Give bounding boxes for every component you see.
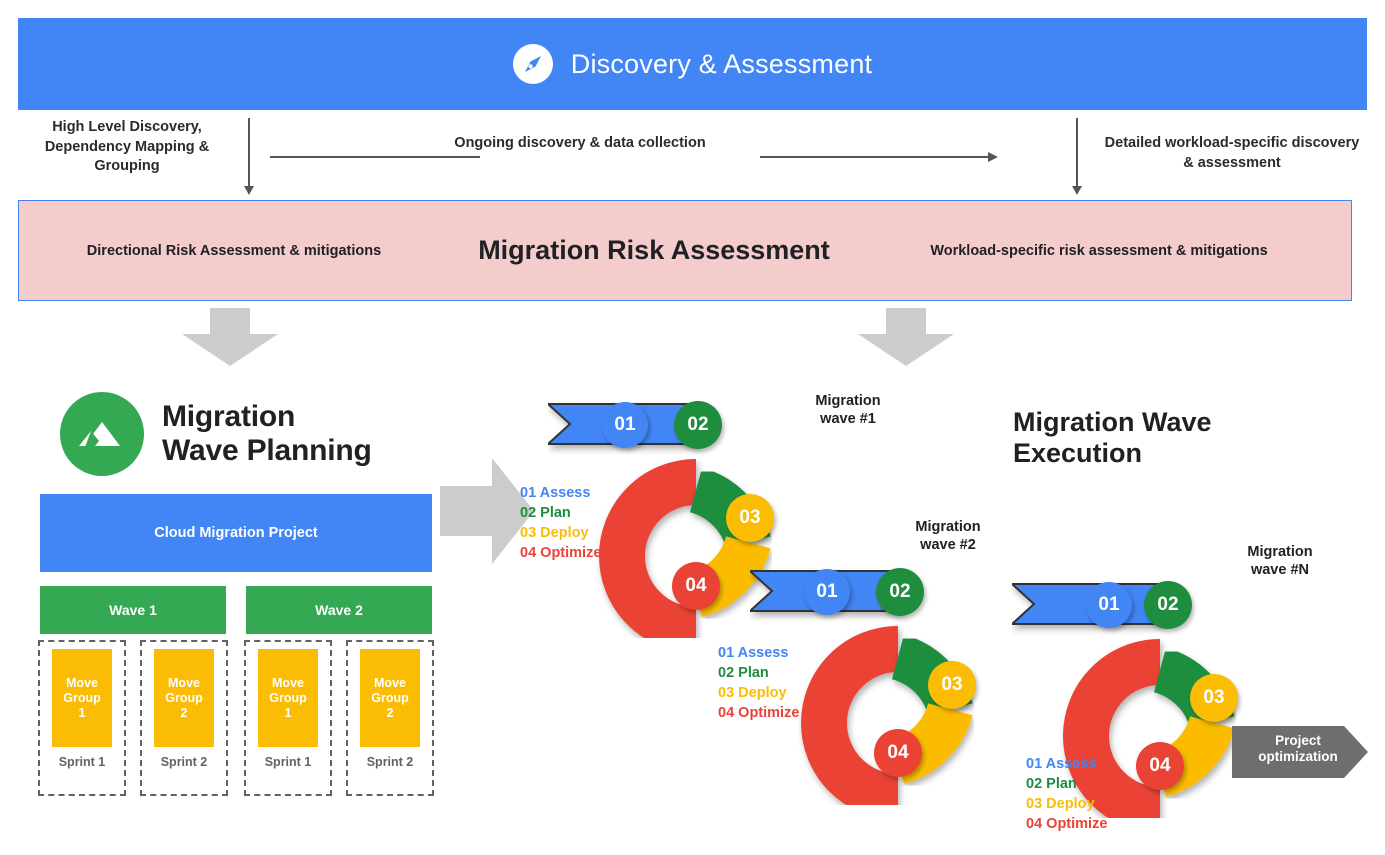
- discovery-assessment-banner: Discovery & Assessment: [18, 18, 1367, 110]
- planning-header: Migration Wave Planning: [60, 388, 440, 480]
- wave-1-badge-01: 01: [602, 402, 648, 448]
- wave-1-badge-03: 03: [726, 494, 774, 542]
- badge-label: 03: [739, 507, 760, 529]
- legend-label: Deploy: [540, 525, 588, 541]
- right-down-arrowhead: [1072, 186, 1082, 195]
- wave-n-badge-01: 01: [1086, 582, 1132, 628]
- badge-label: 01: [1098, 594, 1119, 616]
- wave-2-badge-01: 01: [804, 569, 850, 615]
- connector-right-arrowhead: [988, 152, 998, 162]
- legend-num: 03: [1026, 796, 1042, 812]
- project-optimization-label: Project optimization: [1244, 733, 1352, 765]
- legend-item-03: 03 Deploy: [1026, 794, 1107, 814]
- legend-item-04: 04 Optimize: [520, 543, 601, 563]
- page-title: Discovery & Assessment: [571, 49, 873, 80]
- execution-title: Migration Wave Execution: [1013, 407, 1273, 469]
- legend-item-04: 04 Optimize: [718, 703, 799, 723]
- wave-n-legend: 01 Assess 02 Plan 03 Deploy 04 Optimize: [1026, 754, 1107, 834]
- sprint-label: Sprint 2: [367, 755, 414, 769]
- move-group-box: Move Group 1: [258, 649, 318, 747]
- legend-num: 02: [718, 665, 734, 681]
- connector-right-text: Detailed workload-specific discovery & a…: [1098, 134, 1366, 173]
- legend-label: Assess: [540, 485, 591, 501]
- wave-n-badge-02: 02: [1144, 581, 1192, 629]
- connector-middle-text: Ongoing discovery & data collection: [440, 134, 720, 154]
- sprint-cell: Move Group 2 Sprint 2: [140, 640, 228, 796]
- compass-icon: [513, 44, 553, 84]
- legend-item-01: 01 Assess: [1026, 754, 1107, 774]
- connector-left-text: High Level Discovery, Dependency Mapping…: [18, 118, 236, 177]
- connector-line-left-segment: [270, 156, 480, 158]
- right-down-connector-line: [1076, 118, 1078, 190]
- risk-right-text: Workload-specific risk assessment & miti…: [859, 243, 1339, 259]
- wave-n-badge-03: 03: [1190, 674, 1238, 722]
- badge-label: 02: [687, 414, 708, 436]
- wave-box-2: Wave 2: [246, 586, 432, 634]
- legend-item-01: 01 Assess: [520, 483, 601, 503]
- badge-label: 04: [685, 575, 706, 597]
- wave-1-badge-04: 04: [672, 562, 720, 610]
- legend-label: Plan: [738, 665, 769, 681]
- migration-wave-1-label: Migration wave #1: [790, 392, 906, 428]
- down-arrow-to-execution: [858, 308, 954, 371]
- legend-label: Assess: [1046, 756, 1097, 772]
- legend-item-03: 03 Deploy: [718, 683, 799, 703]
- legend-num: 01: [1026, 756, 1042, 772]
- legend-num: 03: [718, 685, 734, 701]
- legend-label: Plan: [540, 505, 571, 521]
- badge-label: 02: [1157, 594, 1178, 616]
- legend-num: 02: [1026, 776, 1042, 792]
- move-group-box: Move Group 2: [154, 649, 214, 747]
- legend-item-02: 02 Plan: [1026, 774, 1107, 794]
- legend-num: 04: [1026, 816, 1042, 832]
- wave-2-badge-04: 04: [874, 729, 922, 777]
- legend-label: Deploy: [738, 685, 786, 701]
- badge-label: 01: [614, 414, 635, 436]
- legend-label: Optimize: [1046, 816, 1107, 832]
- legend-num: 01: [520, 485, 536, 501]
- left-down-connector-line: [248, 118, 250, 190]
- migration-risk-assessment-band: Directional Risk Assessment & mitigation…: [18, 200, 1352, 301]
- planning-title: Migration Wave Planning: [162, 400, 372, 467]
- mountain-icon: [60, 392, 144, 476]
- sprint-label: Sprint 2: [161, 755, 208, 769]
- wave-1-legend: 01 Assess 02 Plan 03 Deploy 04 Optimize: [520, 483, 601, 563]
- diagram-canvas: Discovery & Assessment High Level Discov…: [0, 0, 1385, 855]
- sprint-cell: Move Group 2 Sprint 2: [346, 640, 434, 796]
- legend-item-03: 03 Deploy: [520, 523, 601, 543]
- badge-label: 03: [1203, 687, 1224, 709]
- wave-2-badge-02: 02: [876, 568, 924, 616]
- wave-2-legend: 01 Assess 02 Plan 03 Deploy 04 Optimize: [718, 643, 799, 723]
- legend-item-04: 04 Optimize: [1026, 814, 1107, 834]
- sprint-label: Sprint 1: [265, 755, 312, 769]
- risk-left-text: Directional Risk Assessment & mitigation…: [19, 243, 449, 259]
- legend-num: 03: [520, 525, 536, 541]
- move-group-box: Move Group 1: [52, 649, 112, 747]
- badge-label: 03: [941, 674, 962, 696]
- wave-2-badge-03: 03: [928, 661, 976, 709]
- badge-label: 02: [889, 581, 910, 603]
- legend-item-02: 02 Plan: [718, 663, 799, 683]
- legend-item-01: 01 Assess: [718, 643, 799, 663]
- risk-center-title: Migration Risk Assessment: [449, 235, 859, 266]
- sprint-label: Sprint 1: [59, 755, 106, 769]
- sprint-cell: Move Group 1 Sprint 1: [38, 640, 126, 796]
- down-arrow-to-planning: [182, 308, 278, 371]
- badge-label: 04: [1149, 755, 1170, 777]
- legend-num: 02: [520, 505, 536, 521]
- badge-label: 04: [887, 742, 908, 764]
- legend-num: 04: [718, 705, 734, 721]
- legend-label: Optimize: [540, 545, 601, 561]
- wave-1-badge-02: 02: [674, 401, 722, 449]
- cloud-migration-project-box: Cloud Migration Project: [40, 494, 432, 572]
- legend-label: Optimize: [738, 705, 799, 721]
- legend-num: 04: [520, 545, 536, 561]
- migration-wave-n-label: Migration wave #N: [1222, 543, 1338, 579]
- wave-box-1: Wave 1: [40, 586, 226, 634]
- legend-item-02: 02 Plan: [520, 503, 601, 523]
- wave-n-badge-04: 04: [1136, 742, 1184, 790]
- legend-num: 01: [718, 645, 734, 661]
- legend-label: Deploy: [1046, 796, 1094, 812]
- migration-wave-2-label: Migration wave #2: [890, 518, 1006, 554]
- legend-label: Assess: [738, 645, 789, 661]
- connector-line-right-segment: [760, 156, 990, 158]
- left-down-arrowhead: [244, 186, 254, 195]
- badge-label: 01: [816, 581, 837, 603]
- legend-label: Plan: [1046, 776, 1077, 792]
- move-group-box: Move Group 2: [360, 649, 420, 747]
- sprint-cell: Move Group 1 Sprint 1: [244, 640, 332, 796]
